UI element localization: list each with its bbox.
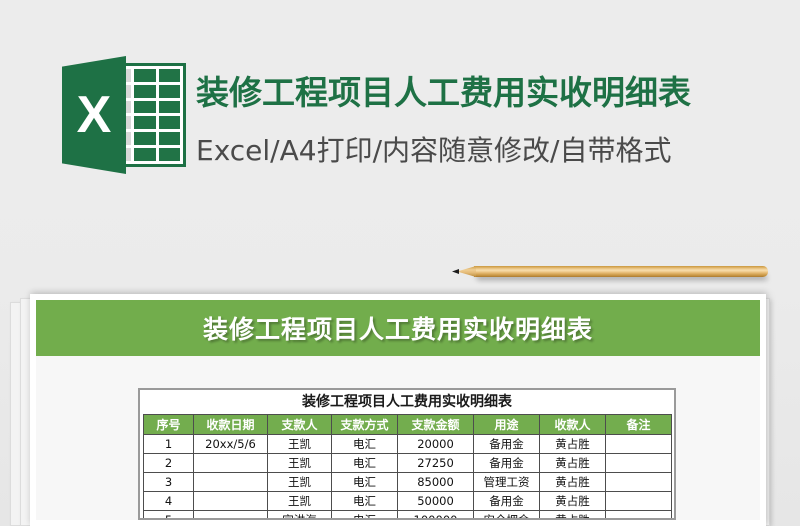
cell-date[interactable] xyxy=(194,454,268,473)
table-row[interactable]: 5 宗洪海 电汇 100000 安全押金 黄占胜 xyxy=(144,511,672,521)
document-banner: 装修工程项目人工费用实收明细表 xyxy=(36,300,760,356)
cell-purpose[interactable]: 备用金 xyxy=(474,435,540,454)
page-subtitle: Excel/A4打印/内容随意修改/自带格式 xyxy=(196,129,671,169)
expense-table[interactable]: 序号 收款日期 支款人 支款方式 支款金额 用途 收款人 备注 1 xyxy=(143,414,672,520)
column-header-remark[interactable]: 备注 xyxy=(606,415,672,435)
pencil-cone xyxy=(457,266,476,277)
cell-remark[interactable] xyxy=(606,435,672,454)
cell-amount[interactable]: 50000 xyxy=(398,492,474,511)
document-body: 装修工程项目人工费用实收明细表 序号 收款日期 支款人 支款方式 支款金额 xyxy=(36,356,760,520)
table-row[interactable]: 3 王凯 电汇 85000 管理工资 黄占胜 xyxy=(144,473,672,492)
table-body: 1 20xx/5/6 王凯 电汇 20000 备用金 黄占胜 2 xyxy=(144,435,672,521)
cell-payee[interactable]: 黄占胜 xyxy=(540,473,606,492)
cell-payer[interactable]: 王凯 xyxy=(268,492,332,511)
cell-date[interactable] xyxy=(194,511,268,521)
pencil-tip xyxy=(452,269,459,274)
cell-seq[interactable]: 5 xyxy=(144,511,194,521)
cell-date[interactable] xyxy=(194,473,268,492)
cell-amount[interactable]: 20000 xyxy=(398,435,474,454)
cell-payee[interactable]: 黄占胜 xyxy=(540,454,606,473)
cell-amount[interactable]: 100000 xyxy=(398,511,474,521)
cell-amount[interactable]: 27250 xyxy=(398,454,474,473)
cell-purpose[interactable]: 管理工资 xyxy=(474,473,540,492)
spreadsheet-title: 装修工程项目人工费用实收明细表 xyxy=(140,390,674,414)
column-header-amount[interactable]: 支款金额 xyxy=(398,415,474,435)
cell-method[interactable]: 电汇 xyxy=(332,492,398,511)
pencil-shadow xyxy=(478,277,768,283)
cell-remark[interactable] xyxy=(606,511,672,521)
document-banner-title: 装修工程项目人工费用实收明细表 xyxy=(203,310,593,346)
cell-seq[interactable]: 4 xyxy=(144,492,194,511)
cell-payee[interactable]: 黄占胜 xyxy=(540,435,606,454)
excel-logo-icon: X xyxy=(62,56,186,174)
table-row[interactable]: 2 王凯 电汇 27250 备用金 黄占胜 xyxy=(144,454,672,473)
cell-purpose[interactable]: 备用金 xyxy=(474,454,540,473)
page-title: 装修工程项目人工费用实收明细表 xyxy=(196,66,691,114)
cell-seq[interactable]: 2 xyxy=(144,454,194,473)
cell-purpose[interactable]: 备用金 xyxy=(474,492,540,511)
cell-payer[interactable]: 王凯 xyxy=(268,435,332,454)
cell-date[interactable]: 20xx/5/6 xyxy=(194,435,268,454)
cell-payee[interactable]: 黄占胜 xyxy=(540,492,606,511)
table-row[interactable]: 1 20xx/5/6 王凯 电汇 20000 备用金 黄占胜 xyxy=(144,435,672,454)
table-header-row: 序号 收款日期 支款人 支款方式 支款金额 用途 收款人 备注 xyxy=(144,415,672,435)
cell-seq[interactable]: 3 xyxy=(144,473,194,492)
column-header-payer[interactable]: 支款人 xyxy=(268,415,332,435)
cell-payer[interactable]: 王凯 xyxy=(268,473,332,492)
column-header-purpose[interactable]: 用途 xyxy=(474,415,540,435)
table-row[interactable]: 4 王凯 电汇 50000 备用金 黄占胜 xyxy=(144,492,672,511)
column-header-payee[interactable]: 收款人 xyxy=(540,415,606,435)
header-banner: X 装修工程项目人工费用实收明细表 Excel/A4打印/内容随意修改/自带格式 xyxy=(0,0,800,208)
cell-payee[interactable]: 黄占胜 xyxy=(540,511,606,521)
cell-amount[interactable]: 85000 xyxy=(398,473,474,492)
cell-payer[interactable]: 王凯 xyxy=(268,454,332,473)
cell-remark[interactable] xyxy=(606,492,672,511)
cell-payer[interactable]: 宗洪海 xyxy=(268,511,332,521)
column-header-seq[interactable]: 序号 xyxy=(144,415,194,435)
cell-method[interactable]: 电汇 xyxy=(332,435,398,454)
cell-date[interactable] xyxy=(194,492,268,511)
cell-seq[interactable]: 1 xyxy=(144,435,194,454)
cell-method[interactable]: 电汇 xyxy=(332,473,398,492)
excel-logo-letter: X xyxy=(62,56,126,174)
cell-method[interactable]: 电汇 xyxy=(332,454,398,473)
column-header-method[interactable]: 支款方式 xyxy=(332,415,398,435)
document-preview-card[interactable]: 装修工程项目人工费用实收明细表 装修工程项目人工费用实收明细表 序号 收款日期 … xyxy=(30,294,766,526)
pencil-illustration xyxy=(452,258,768,284)
spreadsheet-preview[interactable]: 装修工程项目人工费用实收明细表 序号 收款日期 支款人 支款方式 支款金额 xyxy=(138,388,676,520)
page-canvas: X 装修工程项目人工费用实收明细表 Excel/A4打印/内容随意修改/自带格式… xyxy=(0,0,800,526)
cell-remark[interactable] xyxy=(606,454,672,473)
cell-remark[interactable] xyxy=(606,473,672,492)
pencil-body xyxy=(474,266,768,277)
cell-method[interactable]: 电汇 xyxy=(332,511,398,521)
cell-purpose[interactable]: 安全押金 xyxy=(474,511,540,521)
column-header-date[interactable]: 收款日期 xyxy=(194,415,268,435)
